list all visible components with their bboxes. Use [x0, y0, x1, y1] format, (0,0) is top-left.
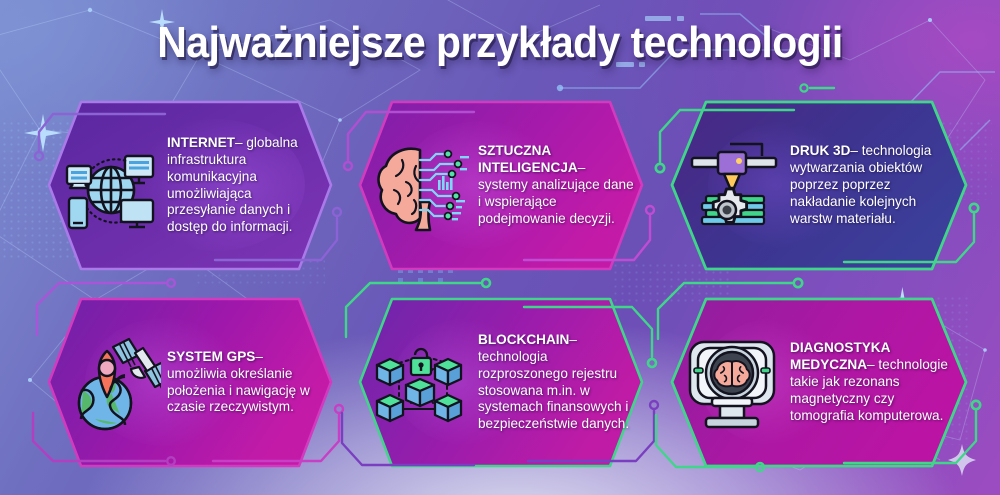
card-internet-dash: –	[235, 135, 243, 150]
blockchain-cubes-icon	[370, 335, 474, 431]
card-gps-text: SYSTEM GPS– umożliwia określanie położen…	[163, 349, 323, 416]
card-internet-term: INTERNET	[167, 135, 235, 150]
card-blockchain[interactable]: BLOCKCHAIN– technologia rozproszonego re…	[356, 295, 646, 470]
card-gps-dash: –	[255, 349, 263, 364]
card-druk3d-text: DRUK 3D– technologia wytwarzania obiektó…	[786, 143, 958, 227]
card-ai-text: SZTUCZNA INTELIGENCJA– systemy analizują…	[474, 143, 634, 227]
mri-scanner-icon	[682, 334, 786, 432]
card-med-dash: –	[867, 357, 875, 372]
card-internet[interactable]: INTERNET– globalna infrastruktura komuni…	[45, 98, 335, 273]
card-druk3d-dash: –	[850, 143, 858, 158]
card-ai-term: SZTUCZNA INTELIGENCJA	[478, 143, 578, 175]
card-med-text: DIAGNOSTYKA MEDYCZNA– technologie takie …	[786, 340, 958, 424]
card-internet-text: INTERNET– globalna infrastruktura komuni…	[163, 135, 323, 236]
technology-cards-grid: INTERNET– globalna infrastruktura komuni…	[0, 0, 1000, 495]
card-blockchain-dash: –	[569, 332, 577, 347]
brain-circuit-icon	[370, 140, 474, 232]
card-system-gps[interactable]: SYSTEM GPS– umożliwia określanie położen…	[45, 295, 335, 470]
card-gps-body: umożliwia określanie położenia i nawigac…	[167, 366, 310, 415]
satellite-globe-icon	[59, 335, 163, 431]
card-artificial-intelligence[interactable]: SZTUCZNA INTELIGENCJA– systemy analizują…	[356, 98, 646, 273]
card-med-term: DIAGNOSTYKA MEDYCZNA	[790, 340, 890, 372]
card-druk3d-term: DRUK 3D	[790, 143, 850, 158]
infographic-canvas: Najważniejsze przykłady technologii	[0, 0, 1000, 495]
card-druk-3d[interactable]: DRUK 3D– technologia wytwarzania obiektó…	[668, 98, 970, 273]
card-blockchain-body: technologia rozproszonego rejestru stoso…	[478, 349, 629, 431]
card-diagnostyka-medyczna[interactable]: DIAGNOSTYKA MEDYCZNA– technologie takie …	[668, 295, 970, 470]
card-ai-body: systemy analizujące dane i wspierające p…	[478, 177, 634, 226]
card-ai-dash: –	[578, 160, 586, 175]
globe-network-icon	[59, 138, 163, 234]
3d-printer-icon	[682, 138, 786, 234]
card-blockchain-text: BLOCKCHAIN– technologia rozproszonego re…	[474, 332, 634, 433]
card-gps-term: SYSTEM GPS	[167, 349, 255, 364]
card-blockchain-term: BLOCKCHAIN	[478, 332, 569, 347]
